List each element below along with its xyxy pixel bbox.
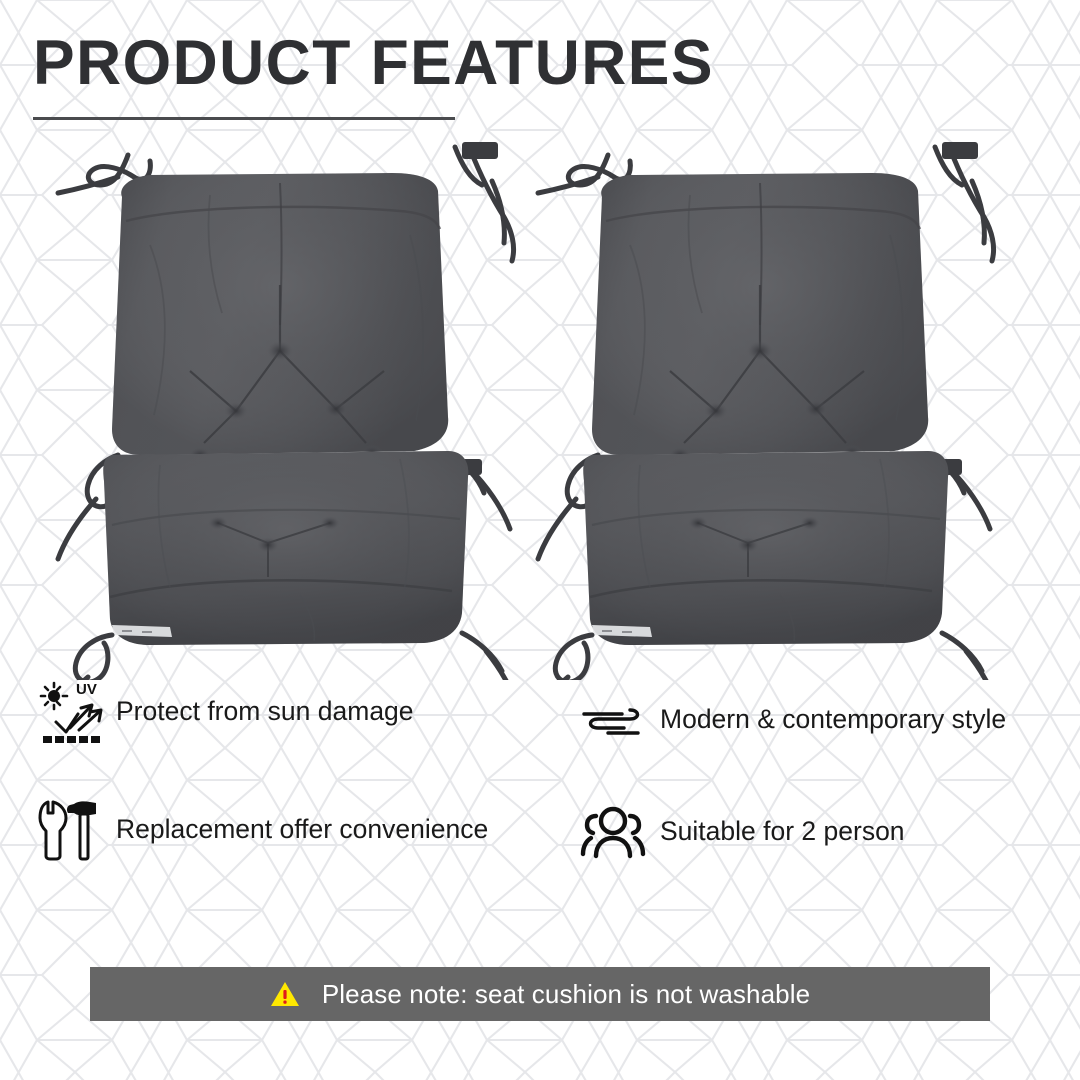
feature-label-capacity: Suitable for 2 person bbox=[660, 817, 905, 846]
note-text: Please note: seat cushion is not washabl… bbox=[322, 979, 810, 1010]
feature-label-replacement: Replacement offer convenience bbox=[116, 815, 488, 844]
page-title: PRODUCT FEATURES bbox=[33, 32, 714, 95]
note-bar: Please note: seat cushion is not washabl… bbox=[90, 967, 990, 1021]
title-underline-rule bbox=[33, 117, 455, 120]
uv-icon-label: UV bbox=[76, 681, 97, 698]
wrench-and-hammer-icon bbox=[34, 796, 108, 864]
feature-list: UV bbox=[0, 678, 1080, 888]
feature-label-modern-style: Modern & contemporary style bbox=[660, 705, 1006, 734]
cushion-left bbox=[44, 142, 520, 680]
feature-item-capacity: Suitable for 2 person bbox=[578, 798, 905, 866]
modern-wave-lines-icon bbox=[578, 686, 652, 754]
group-of-people-icon bbox=[578, 798, 652, 866]
feature-item-sun-protection: UV bbox=[34, 678, 414, 746]
feature-label-sun-protection: Protect from sun damage bbox=[116, 697, 414, 726]
product-features-page: PRODUCT FEATURES bbox=[0, 0, 1080, 1080]
cushion-right bbox=[524, 142, 1000, 680]
product-photo bbox=[0, 125, 1080, 680]
feature-item-replacement: Replacement offer convenience bbox=[34, 796, 488, 864]
uv-sun-protection-icon: UV bbox=[34, 678, 108, 746]
feature-item-modern-style: Modern & contemporary style bbox=[578, 686, 1006, 754]
warning-triangle-icon bbox=[270, 979, 300, 1009]
